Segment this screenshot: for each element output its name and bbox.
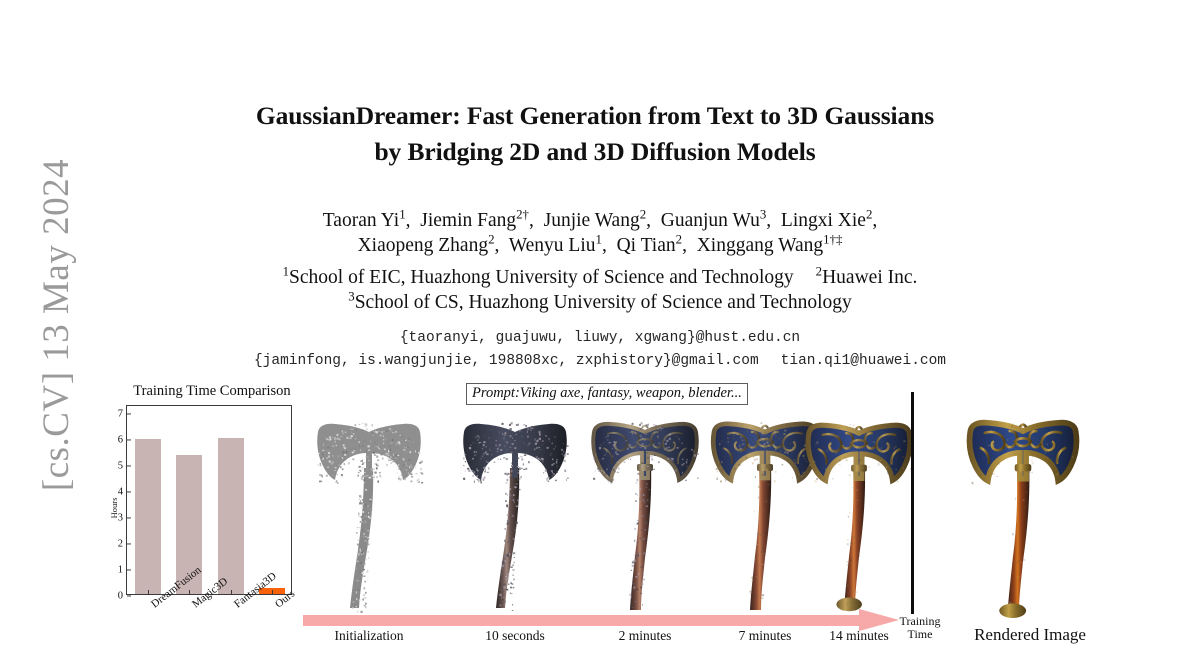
axe-pommel (999, 604, 1026, 618)
email-gmail-group: {jaminfong, is.wangjunjie, 198808xc, zxp… (254, 353, 759, 369)
paper-first-page: [cs.CV] 13 May 2024 GaussianDreamer: Fas… (0, 0, 1200, 648)
axe-illustration (305, 398, 433, 613)
rendered-image-axe (948, 396, 1098, 618)
axe-illustration (800, 398, 918, 613)
title-line-1: GaussianDreamer: Fast Generation from Te… (200, 98, 990, 134)
chart-x-tick-mark (189, 590, 190, 594)
chart-y-tick-label: 2 (118, 538, 123, 549)
author-line-1: Taoran Yi1, Jiemin Fang2†, Junjie Wang2,… (160, 208, 1040, 233)
axe-handle (496, 468, 519, 608)
arxiv-sidebar-stamp: [cs.CV] 13 May 2024 (26, 125, 86, 525)
email-line-1: {taoranyi, guajuwu, liuwy, xgwang}@hust.… (100, 327, 1100, 350)
chart-bar (218, 438, 244, 594)
chart-plot-area: 01234567 (126, 405, 292, 595)
generation-stage-caption: 2 minutes (575, 628, 715, 644)
axe-illustration (455, 398, 575, 613)
author-list: Taoran Yi1, Jiemin Fang2†, Junjie Wang2,… (160, 208, 1040, 259)
axe-body (463, 424, 567, 608)
training-time-arrow (303, 611, 898, 629)
chart-y-tick-mark (127, 517, 131, 518)
chart-x-tick-mark (148, 590, 149, 594)
affiliation-line-1: 1School of EIC, Huazhong University of S… (120, 265, 1080, 290)
generation-stage (305, 398, 433, 613)
axe-collar (1015, 464, 1032, 471)
axe-illustration (948, 396, 1098, 618)
generation-stage-strip (300, 398, 900, 613)
generation-stage (455, 398, 575, 613)
generation-stage (800, 398, 918, 613)
axe-collar (757, 464, 773, 471)
chart-y-tick-label: 5 (118, 460, 123, 471)
chart-bar (135, 439, 161, 594)
generation-stage (585, 398, 705, 613)
axe-body (808, 425, 910, 611)
vertical-divider (911, 392, 914, 614)
axe-handle (750, 466, 771, 610)
email-huawei: tian.qi1@huawei.com (781, 353, 946, 369)
chart-y-tick-label: 7 (118, 408, 123, 419)
axe-handle (1008, 466, 1030, 615)
chart-y-tick-mark (127, 543, 131, 544)
chart-y-tick-mark (127, 439, 131, 440)
generation-stage-caption: 14 minutes (789, 628, 929, 644)
chart-title: Training Time Comparison (116, 383, 308, 400)
title-line-2: by Bridging 2D and 3D Diffusion Models (200, 134, 990, 170)
affiliation-list: 1School of EIC, Huazhong University of S… (120, 265, 1080, 316)
chart-x-tick-mark (231, 590, 232, 594)
axe-body (970, 423, 1077, 618)
generation-stage-caption: 10 seconds (445, 628, 585, 644)
email-list: {taoranyi, guajuwu, liuwy, xgwang}@hust.… (100, 327, 1100, 373)
chart-y-tick-label: 3 (118, 512, 123, 523)
chart-y-tick-mark (127, 465, 131, 466)
chart-y-tick-label: 6 (118, 434, 123, 445)
chart-y-tick-label: 0 (118, 591, 123, 602)
chart-x-tick-mark (272, 590, 273, 594)
chart-y-tick-mark (127, 595, 131, 596)
training-time-chart: Training Time Comparison Hours 01234567 … (104, 383, 304, 648)
email-line-2: {jaminfong, is.wangjunjie, 198808xc, zxp… (100, 350, 1100, 373)
axe-handle (350, 468, 373, 608)
rendered-image-label: Rendered Image (935, 625, 1125, 645)
chart-y-tick-mark (127, 569, 131, 570)
author-line-2: Xiaopeng Zhang2, Wenyu Liu1, Qi Tian2, X… (160, 233, 1040, 258)
axe-illustration (585, 398, 705, 613)
chart-y-tick-label: 1 (118, 564, 123, 575)
page-title: GaussianDreamer: Fast Generation from Te… (200, 98, 990, 170)
affiliation-line-2: 3School of CS, Huazhong University of Sc… (120, 290, 1080, 315)
chart-y-tick-mark (127, 491, 131, 492)
chart-y-tick-label: 4 (118, 486, 123, 497)
arrow-shaft (303, 615, 863, 626)
chart-y-axis-label: Hours (109, 473, 119, 543)
chart-y-tick-mark (127, 413, 131, 414)
generation-stage-caption: Initialization (299, 628, 439, 644)
axe-body (593, 424, 697, 610)
